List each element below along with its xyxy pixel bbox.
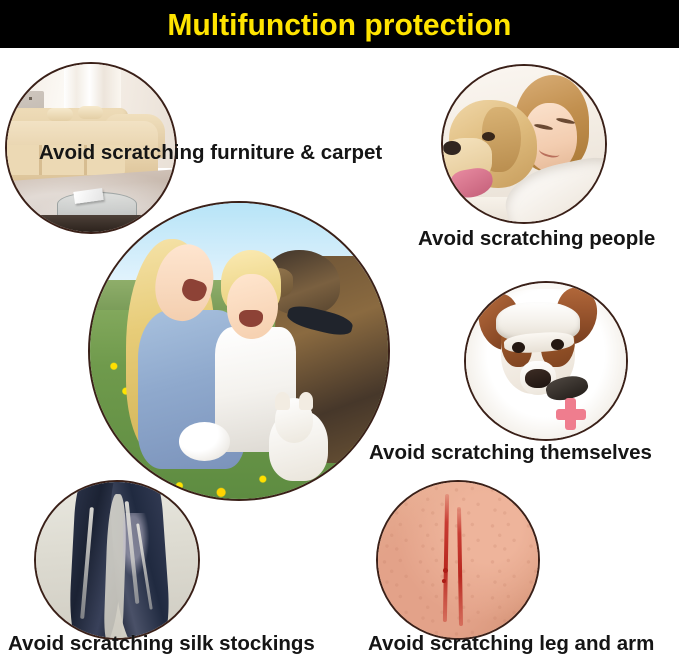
sofa-pillow-left [47, 108, 72, 121]
caption-leg-arm: Avoid scratching leg and arm [368, 634, 654, 655]
pink-cross-icon-bar [556, 409, 586, 420]
photo-leg-arm [376, 480, 540, 640]
white-ball [179, 422, 230, 460]
caption-themselves: Avoid scratching themselves [369, 443, 652, 464]
boy-face [227, 274, 278, 339]
sofa-pillow-right [78, 106, 103, 119]
photo-stockings-scene [36, 482, 198, 638]
caption-furniture: Avoid scratching furniture & carpet [39, 143, 382, 164]
photo-leg-arm-scene [378, 482, 538, 638]
caption-people: Avoid scratching people [418, 229, 655, 250]
photo-stockings [34, 480, 200, 640]
photo-family-scene [90, 203, 388, 499]
scratch-blood-spot-1 [443, 568, 448, 573]
golden-retriever-eye [482, 132, 495, 141]
photo-people [441, 64, 607, 224]
white-puppy-ear-left [275, 392, 290, 410]
caption-stockings: Avoid scratching silk stockings [8, 634, 315, 655]
photo-people-scene [443, 66, 605, 222]
header-banner: Multifunction protection [0, 0, 679, 48]
photo-themselves-scene [466, 283, 626, 439]
photo-themselves [464, 281, 628, 441]
infographic-page: Multifunction protection Avoid scratchin… [0, 0, 679, 667]
terrier-eye-right [551, 339, 564, 350]
photo-family [88, 201, 390, 501]
golden-retriever-nose [443, 141, 461, 155]
white-puppy-ear-right [299, 392, 314, 410]
page-title: Multifunction protection [167, 9, 511, 40]
